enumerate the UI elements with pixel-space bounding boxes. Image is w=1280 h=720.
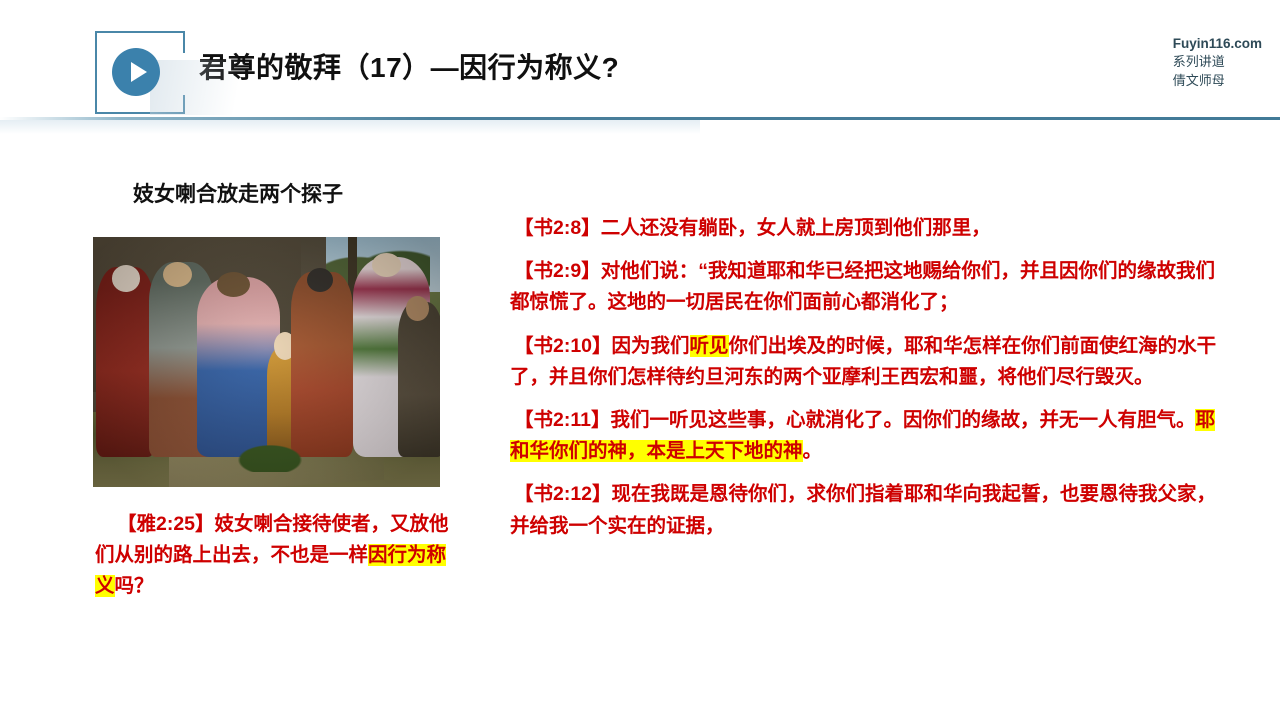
caption-reference: 【雅2:25】 — [117, 513, 215, 535]
picture-caption: 【雅2:25】妓女喇合接待使者，又放他们从别的路上出去，不也是一样因行为称义吗？ — [95, 509, 455, 601]
caption-text-2: 吗？ — [115, 575, 154, 597]
verse-highlight: 听见 — [690, 335, 729, 357]
verse-reference: 【书2:10】 — [514, 335, 612, 357]
verse-reference: 【书2:8】 — [514, 217, 601, 239]
verse-reference: 【书2:11】 — [514, 409, 610, 431]
verse-text: 对他们说：“我知道耶和华已经把这地赐给你们，并且因你们的缘故我们都惊慌了。这地的… — [510, 260, 1215, 313]
verse-reference: 【书2:12】 — [514, 483, 612, 505]
verse-paragraph: 【书2:10】因为我们听见你们出埃及的时候，耶和华怎样在你们前面使红海的水干了，… — [510, 331, 1226, 393]
brand-speaker: 倩文师母 — [1173, 72, 1262, 90]
verse-text: 因为我们 — [612, 335, 690, 357]
brand-block: Fuyin116.com 系列讲道 倩文师母 — [1173, 34, 1262, 90]
verse-text: 现在我既是恩待你们，求你们指着耶和华向我起誓，也要恩待我父家，并给我一个实在的证… — [510, 483, 1216, 536]
slide-root: 君尊的敬拜（17）—因行为称义? Fuyin116.com 系列讲道 倩文师母 … — [0, 0, 1280, 720]
play-button-icon[interactable] — [112, 48, 160, 96]
verse-paragraph: 【书2:8】二人还没有躺卧，女人就上房顶到他们那里， — [510, 213, 1226, 244]
verse-text: 我们一听见这些事，心就消化了。因你们的缘故，并无一人有胆气。 — [610, 409, 1195, 431]
brand-domain: Fuyin116.com — [1173, 34, 1262, 53]
picture-heading: 妓女喇合放走两个探子 — [133, 178, 343, 208]
painting-image — [93, 237, 440, 487]
logo-sheen — [150, 60, 270, 115]
verse-reference: 【书2:9】 — [514, 260, 601, 282]
play-triangle-icon — [131, 62, 147, 82]
verse-paragraph: 【书2:9】对他们说：“我知道耶和华已经把这地赐给你们，并且因你们的缘故我们都惊… — [510, 256, 1226, 318]
verse-text: 。 — [803, 440, 823, 462]
verse-paragraph: 【书2:12】现在我既是恩待你们，求你们指着耶和华向我起誓，也要恩待我父家，并给… — [510, 479, 1226, 541]
verse-paragraph: 【书2:11】我们一听见这些事，心就消化了。因你们的缘故，并无一人有胆气。耶和华… — [510, 405, 1226, 467]
verse-text: 二人还没有躺卧，女人就上房顶到他们那里， — [601, 217, 991, 239]
brand-series: 系列讲道 — [1173, 53, 1262, 71]
verse-list: 【书2:8】二人还没有躺卧，女人就上房顶到他们那里，【书2:9】对他们说：“我知… — [510, 213, 1226, 554]
header-divider-glow — [0, 120, 700, 134]
